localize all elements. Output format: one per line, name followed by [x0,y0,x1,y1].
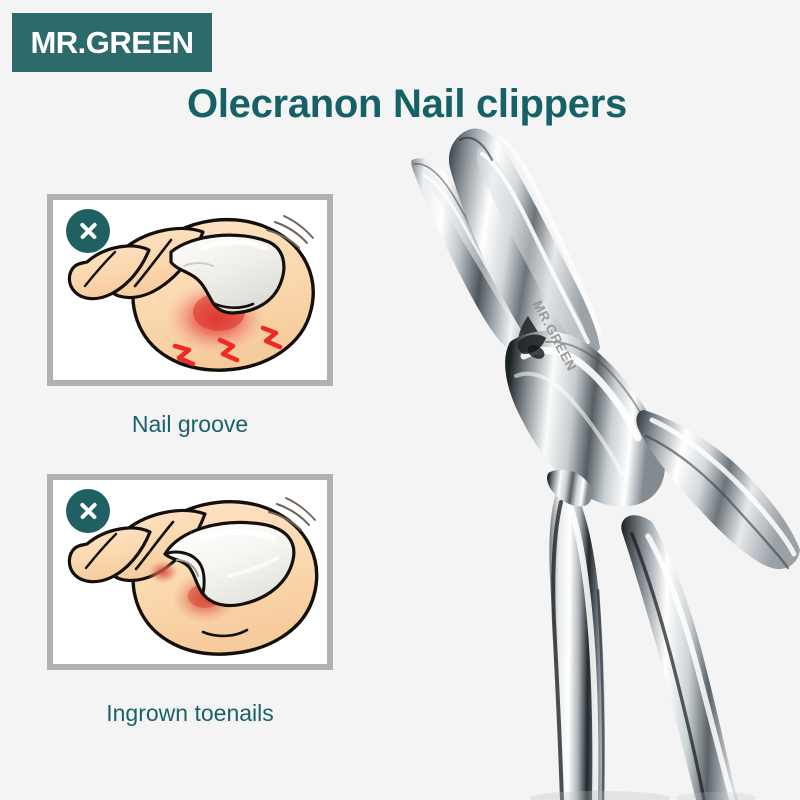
problem-card-nail-groove [47,194,333,386]
product-image-nail-clipper: MR.GREEN [400,120,800,800]
product-marketing-page: MR.GREEN Olecranon Nail clippers [0,0,800,800]
card-caption-ingrown-toenails: Ingrown toenails [47,700,333,727]
problem-card-ingrown-toenails [47,474,333,670]
x-mark-icon [66,489,110,533]
brand-logo-text: MR.GREEN [30,27,193,58]
brand-logo-badge: MR.GREEN [12,13,212,72]
card-caption-nail-groove: Nail groove [47,411,333,438]
x-mark-icon [66,209,110,253]
